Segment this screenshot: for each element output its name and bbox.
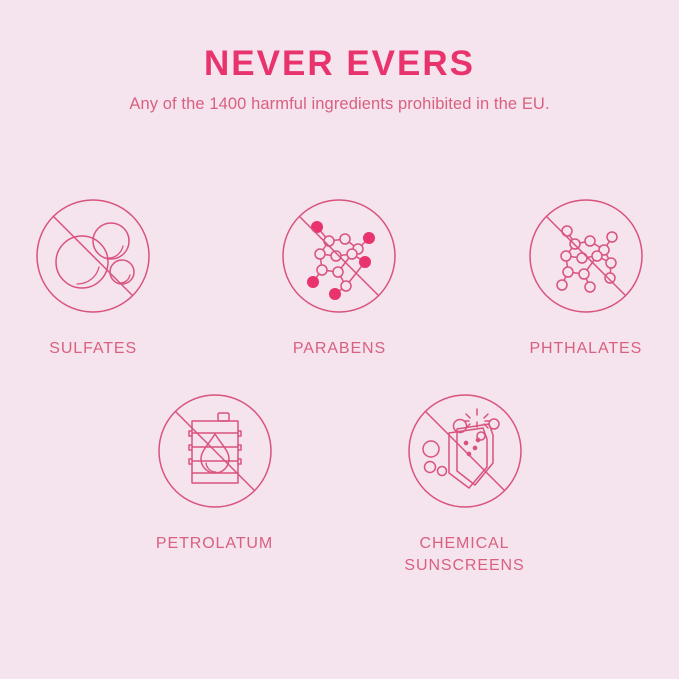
never-ever-item-chemical-sunscreens: CHEMICAL SUNSCREENS [370,391,560,577]
never-ever-item-petrolatum: PETROLATUM [120,391,310,555]
never-ever-item-phthalates: PHTHALATES [493,196,679,360]
never-ever-label-sulfates: SULFATES [49,338,137,360]
header: NEVER EVERS Any of the 1400 harmful ingr… [0,42,679,115]
never-ever-label-chemical-sunscreens: CHEMICAL SUNSCREENS [404,533,524,577]
never-ever-label-parabens: PARABENS [293,338,386,360]
page-title: NEVER EVERS [0,42,679,86]
never-ever-label-petrolatum: PETROLATUM [156,533,273,555]
no-parabens-molecule-icon [279,196,399,316]
no-sulfates-bubbles-icon [33,196,153,316]
no-phthalates-molecule-icon [526,196,646,316]
page-subtitle: Any of the 1400 harmful ingredients proh… [0,93,679,115]
grid-row-2: PETROLATUM [0,391,679,577]
no-chemical-sunscreens-shield-icon [405,391,525,511]
grid-row-1: SULFATES [0,196,679,360]
never-evers-infographic: NEVER EVERS Any of the 1400 harmful ingr… [0,0,679,679]
never-evers-grid: SULFATES [0,196,679,577]
never-ever-item-parabens: PARABENS [246,196,432,360]
never-ever-item-sulfates: SULFATES [0,196,186,360]
never-ever-label-phthalates: PHTHALATES [529,338,642,360]
no-petrolatum-barrel-icon [155,391,275,511]
